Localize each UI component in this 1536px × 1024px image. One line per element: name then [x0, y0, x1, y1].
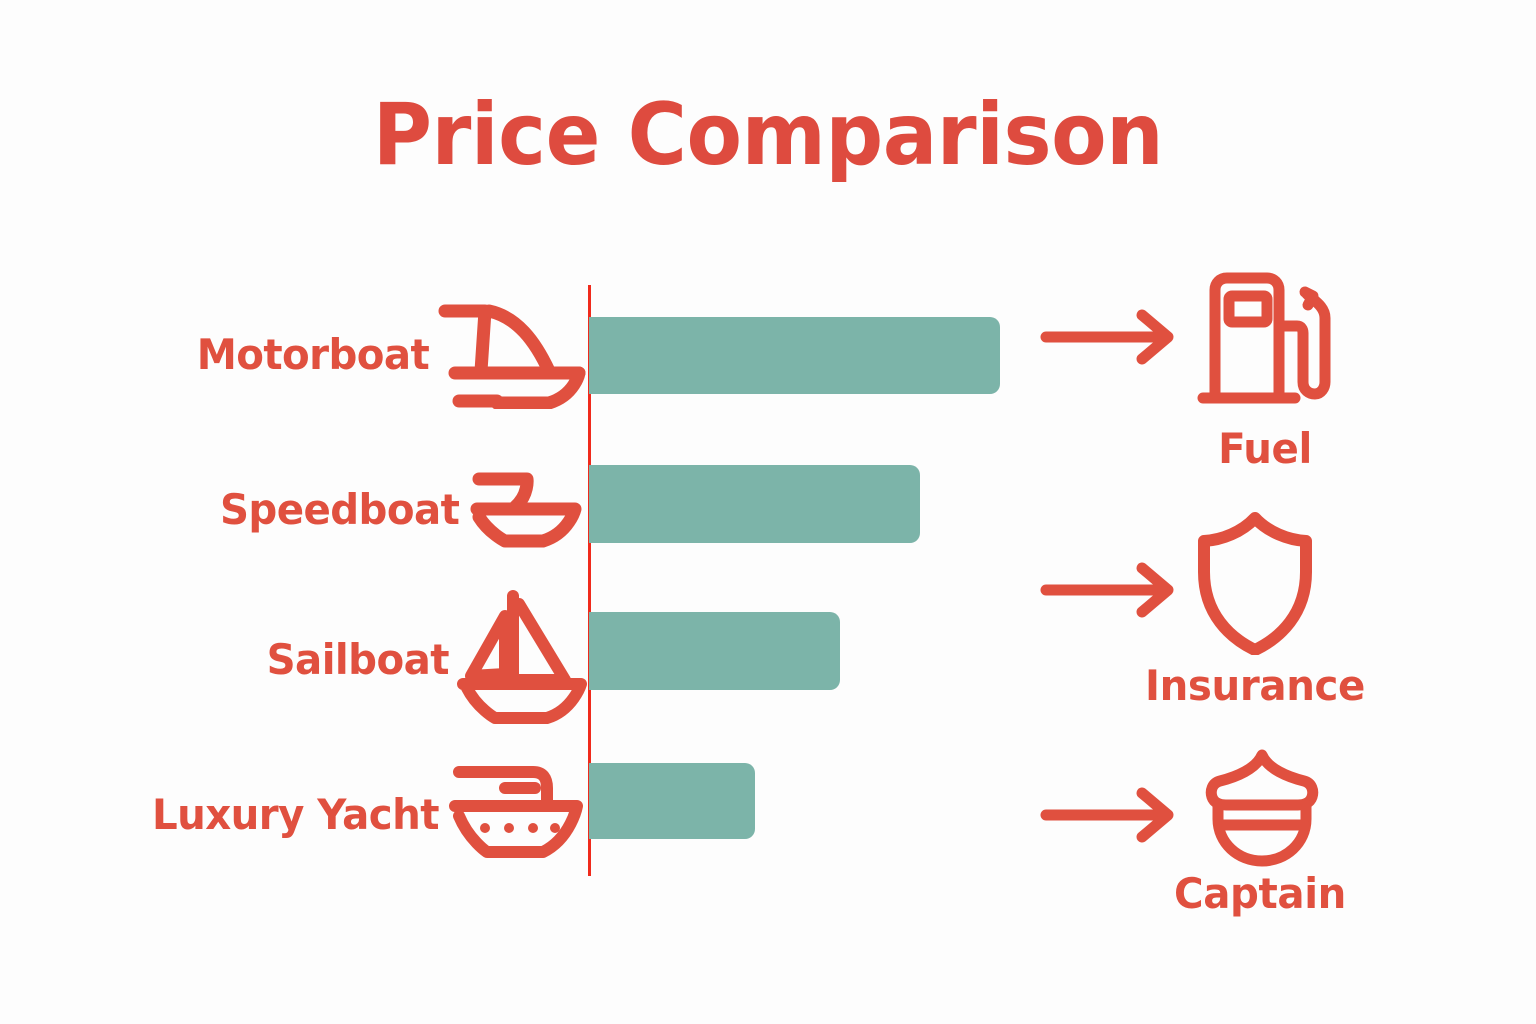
bar-luxury-yacht [589, 763, 755, 839]
shield-icon [1190, 510, 1320, 660]
category-row-motorboat: Motorboat [60, 300, 588, 410]
cost-factor-label: Captain [1140, 873, 1380, 915]
motorboat-icon [433, 297, 588, 414]
captain-hat-icon [1200, 747, 1325, 877]
cost-factor-captain: Captain [1035, 735, 1435, 955]
cost-factor-fuel: Fuel [1035, 270, 1435, 490]
arrow-right-icon [1040, 785, 1180, 850]
speedboat-icon [463, 463, 588, 558]
category-label: Speedboat [220, 489, 459, 531]
cost-factor-label: Fuel [1198, 428, 1332, 470]
category-label: Luxury Yacht [152, 794, 439, 836]
category-label: Sailboat [267, 639, 449, 681]
infographic-canvas: Price Comparison Motorboat Speedboat [0, 0, 1536, 1024]
fuel-pump-icon [1195, 270, 1335, 420]
sailboat-icon [453, 588, 588, 733]
yacht-icon [443, 758, 588, 873]
category-row-speedboat: Speedboat [60, 455, 588, 565]
bar-motorboat [589, 317, 1000, 394]
category-row-luxury-yacht: Luxury Yacht [60, 760, 588, 870]
bar-speedboat [589, 465, 920, 543]
category-label: Motorboat [196, 334, 429, 376]
cost-factor-label: Insurance [1135, 665, 1375, 707]
arrow-right-icon [1040, 307, 1180, 372]
category-row-sailboat: Sailboat [60, 605, 588, 715]
cost-factor-insurance: Insurance [1035, 505, 1435, 725]
bar-sailboat [589, 612, 840, 690]
arrow-right-icon [1040, 560, 1180, 625]
page-title: Price Comparison [46, 92, 1490, 178]
